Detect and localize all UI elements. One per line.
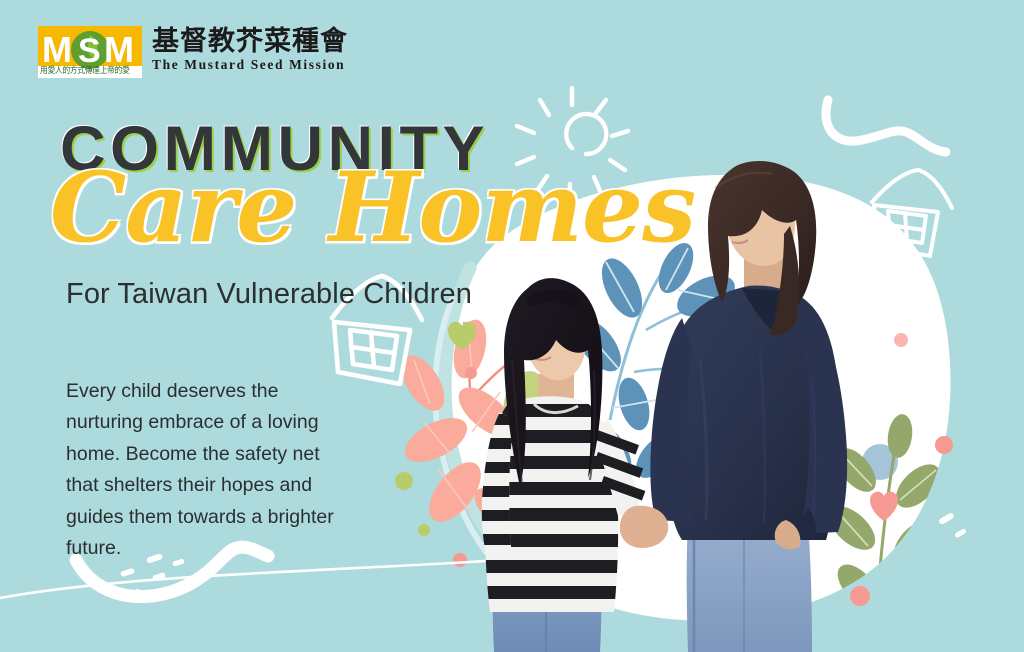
- org-name-chinese: 基督教芥菜種會: [152, 27, 348, 56]
- girl-face: [525, 290, 587, 380]
- heart-shape-pink: [870, 492, 898, 521]
- accent-dot: [418, 524, 430, 536]
- girl-arm: [592, 420, 640, 516]
- woman-jeans: [687, 494, 812, 652]
- accent-dot: [453, 553, 467, 567]
- olive-leaf-shapes: [488, 365, 552, 472]
- woman-neck: [744, 250, 786, 300]
- svg-text:M: M: [42, 29, 72, 70]
- girl-shirt-stripes: [470, 404, 640, 599]
- woman-hand: [775, 520, 801, 549]
- heart-shape-green: [448, 322, 476, 350]
- logo-tagline: 用愛人的方式傳達上帝的愛: [40, 66, 132, 77]
- girl-hair: [504, 278, 602, 486]
- woman-sleeve: [800, 306, 847, 534]
- blue-leaf-sprig: [566, 238, 741, 485]
- headline-subtitle: For Taiwan Vulnerable Children: [66, 278, 472, 311]
- headline-line2: Care Homes: [50, 160, 695, 256]
- promotional-banner: M S M 用愛人的方式傳達上帝的愛 基督教芥菜種會 The Mustard S…: [0, 0, 1024, 652]
- girl-neck: [538, 374, 574, 412]
- brushstroke-squiggle: [826, 100, 946, 152]
- logo-wordmark: 基督教芥菜種會 The Mustard Seed Mission: [152, 26, 348, 73]
- org-name-english: The Mustard Seed Mission: [152, 57, 348, 73]
- house-icon: [872, 170, 952, 256]
- woman-sleeve: [650, 318, 692, 522]
- accent-dot: [850, 586, 870, 606]
- accent-dot: [862, 444, 898, 480]
- green-leaf-sprig: [821, 413, 948, 620]
- girl-shirt: [485, 396, 618, 612]
- svg-text:S: S: [78, 32, 101, 70]
- woman-top: [666, 285, 840, 540]
- dash-marks: [938, 512, 967, 538]
- organization-logo[interactable]: M S M 用愛人的方式傳達上帝的愛 基督教芥菜種會 The Mustard S…: [38, 26, 348, 78]
- accent-dot: [395, 472, 413, 490]
- girl-figure: [470, 278, 668, 652]
- held-hands: [620, 506, 668, 548]
- coral-leaf-sprig: [393, 316, 552, 536]
- msm-logo-mark: M S M 用愛人的方式傳達上帝的愛: [38, 26, 142, 78]
- accent-dot: [894, 333, 908, 347]
- woman-face: [725, 168, 795, 266]
- headline-block: COMMUNITY Care Homes For Taiwan Vulnerab…: [60, 118, 489, 181]
- accent-dot: [465, 367, 477, 379]
- girl-sleeve: [482, 412, 514, 560]
- body-paragraph: Every child deserves the nurturing embra…: [66, 376, 334, 565]
- teal-arc-thin: [435, 300, 486, 552]
- accent-dot: [935, 436, 953, 454]
- woman-hair: [708, 161, 816, 306]
- girl-jeans: [493, 542, 602, 652]
- dash-marks: [758, 367, 796, 418]
- svg-text:M: M: [104, 29, 134, 70]
